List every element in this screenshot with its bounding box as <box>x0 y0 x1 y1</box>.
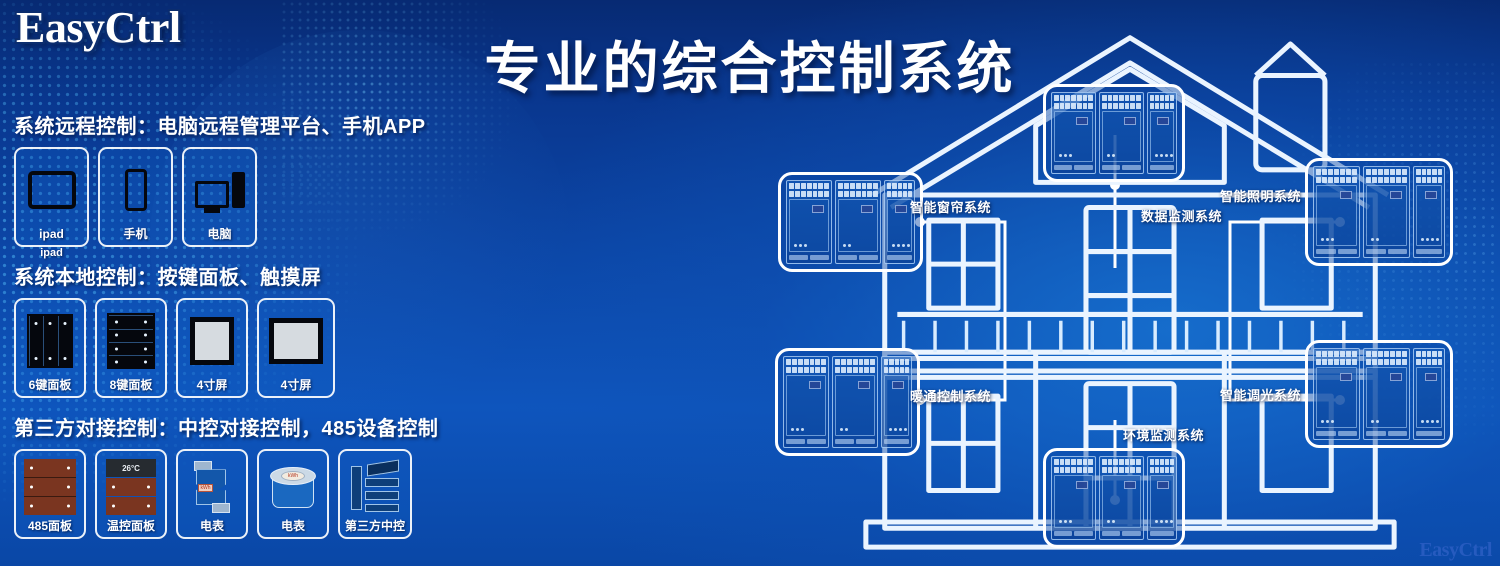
section-heading-remote-control: 系统远程控制：电脑远程管理平台、手机APP <box>14 110 426 139</box>
round-meter-icon: kWh <box>264 457 322 518</box>
device-card-row-third-party: 485面板 26°C 温控面板 kWh 电表 kWh 电表 <box>14 449 412 539</box>
tablet-icon <box>21 155 82 226</box>
device-card-label: 8键面板 <box>110 379 153 392</box>
device-card-label: 电表 <box>281 520 305 533</box>
device-card-label: 4寸屏 <box>281 379 312 392</box>
thermostat-temperature-display: 26°C <box>106 459 156 477</box>
device-card-row-local: 6键面板 8键面板 4寸屏 4寸屏 <box>14 298 335 398</box>
third-party-controller-icon <box>345 457 405 518</box>
module-box-data-monitoring[interactable] <box>1043 84 1185 182</box>
meter-unit-label: kWh <box>198 484 213 492</box>
rs485-panel-icon <box>21 457 79 518</box>
node-label-dimming: 智能调光系统 <box>1220 385 1301 404</box>
node-label-environment: 环境监测系统 <box>1123 425 1204 444</box>
control-module-icon <box>783 356 912 448</box>
device-card-label: 第三方中控 <box>345 520 405 533</box>
device-card-485-panel[interactable]: 485面板 <box>14 449 86 539</box>
control-module-icon <box>1051 92 1177 174</box>
desktop-computer-icon <box>189 155 250 226</box>
din-rail-meter-icon: kWh <box>183 457 241 518</box>
module-box-hvac[interactable] <box>775 348 920 456</box>
system-topology-diagram: 智能窗帘系统 数据监测系统 <box>760 0 1500 566</box>
device-card-8key-panel[interactable]: 8键面板 <box>95 298 167 398</box>
device-card-label: 温控面板 <box>107 520 155 533</box>
device-card-6key-panel[interactable]: 6键面板 <box>14 298 86 398</box>
module-box-curtain[interactable] <box>778 172 923 272</box>
device-card-meter-din[interactable]: kWh 电表 <box>176 449 248 539</box>
node-label-data-monitoring: 数据监测系统 <box>1141 206 1222 225</box>
device-card-label: 电表 <box>200 520 224 533</box>
device-card-label: 485面板 <box>28 520 72 533</box>
device-card-label: 6键面板 <box>29 379 72 392</box>
control-module-icon <box>1051 456 1177 540</box>
device-card-meter-round[interactable]: kWh 电表 <box>257 449 329 539</box>
thermostat-panel-icon: 26°C <box>102 457 160 518</box>
device-card-phone[interactable]: 手机 <box>98 147 173 247</box>
device-card-label: 手机 <box>123 228 147 241</box>
module-box-dimming[interactable] <box>1305 340 1453 448</box>
device-card-label: 4寸屏 <box>197 379 228 392</box>
device-card-sublabel: ipad <box>16 245 87 259</box>
device-card-computer[interactable]: 电脑 <box>182 147 257 247</box>
section-heading-local-control: 系统本地控制：按键面板、触摸屏 <box>14 261 322 290</box>
section-heading-third-party: 第三方对接控制：中控对接控制，485设备控制 <box>14 412 438 441</box>
node-label-curtain: 智能窗帘系统 <box>910 197 991 216</box>
device-card-label: 电脑 <box>207 228 231 241</box>
device-card-third-party-controller[interactable]: 第三方中控 <box>338 449 412 539</box>
control-module-icon <box>786 180 915 264</box>
brand-logo: EasyCtrl <box>16 2 181 53</box>
touchscreen-wide-icon <box>264 306 328 377</box>
device-card-touchscreen-1[interactable]: 4寸屏 <box>176 298 248 398</box>
module-box-environment[interactable] <box>1043 448 1185 548</box>
device-card-touchscreen-2[interactable]: 4寸屏 <box>257 298 335 398</box>
smartphone-icon <box>105 155 166 226</box>
device-card-ipad[interactable]: ipad ipad <box>14 147 89 247</box>
device-card-label: ipad <box>39 228 64 241</box>
six-key-panel-icon <box>21 306 79 377</box>
brand-watermark: EasyCtrl <box>1419 539 1492 562</box>
eight-key-panel-icon <box>102 306 160 377</box>
control-module-icon <box>1313 348 1445 440</box>
node-label-lighting: 智能照明系统 <box>1220 186 1301 205</box>
device-card-thermostat-panel[interactable]: 26°C 温控面板 <box>95 449 167 539</box>
control-module-icon <box>1313 166 1445 258</box>
device-card-row-remote: ipad ipad 手机 电脑 <box>14 147 257 247</box>
node-label-hvac: 暖通控制系统 <box>910 386 991 405</box>
touchscreen-icon <box>183 306 241 377</box>
module-box-lighting[interactable] <box>1305 158 1453 266</box>
